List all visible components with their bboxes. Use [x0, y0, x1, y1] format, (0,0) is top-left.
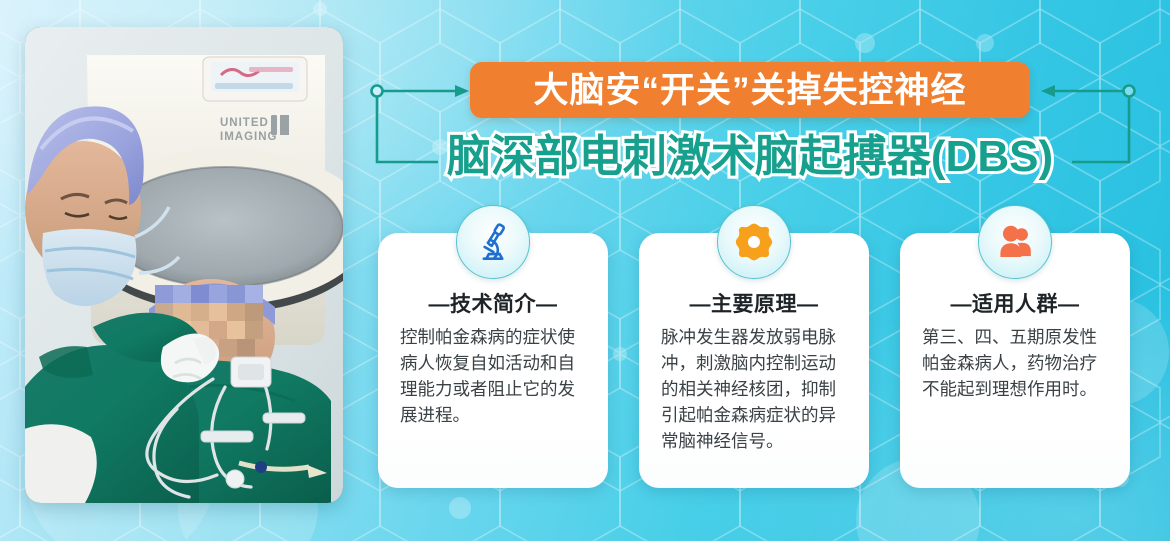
card-body-text: 控制帕金森病的症状使病人恢复自如活动和自理能力或者阻止它的发展进程。 — [400, 325, 590, 429]
microscope-icon — [473, 222, 513, 262]
card-body-text: 第三、四、五期原发性帕金森病人，药物治疗不能起到理想作用时。 — [922, 325, 1112, 403]
headline-banner-text: 大脑安“开关”关掉失控神经 — [533, 73, 966, 108]
gear-icon-badge — [717, 205, 791, 279]
info-card-group: —技术简介— 控制帕金森病的症状使病人恢复自如活动和自理能力或者阻止它的发展进程… — [378, 233, 1150, 488]
microscope-icon-badge — [456, 205, 530, 279]
headline-banner: 大脑安“开关”关掉失控神经 — [470, 62, 1030, 118]
card-title: —主要原理— — [639, 288, 869, 318]
svg-text:IMAGING: IMAGING — [220, 131, 277, 143]
svg-text:UNITED: UNITED — [220, 117, 269, 129]
card-title: —适用人群— — [900, 288, 1130, 318]
headline-subtitle: 脑深部电刺激术脑起搏器(DBS) — [380, 126, 1120, 188]
people-icon — [995, 222, 1035, 262]
surgery-photo: UNITED IMAGING — [25, 27, 343, 503]
headline-subtitle-text: 脑深部电刺激术脑起搏器(DBS) — [447, 135, 1053, 179]
gear-icon — [734, 222, 774, 262]
people-icon-badge — [978, 205, 1052, 279]
infographic-banner: UNITED IMAGING — [0, 0, 1170, 541]
info-card-tech-intro: —技术简介— 控制帕金森病的症状使病人恢复自如活动和自理能力或者阻止它的发展进程… — [378, 233, 608, 488]
info-card-main-principle: —主要原理— 脉冲发生器发放弱电脉冲，刺激脑内控制运动的相关神经核团，抑制引起帕… — [639, 233, 869, 488]
info-card-target-group: —适用人群— 第三、四、五期原发性帕金森病人，药物治疗不能起到理想作用时。 — [900, 233, 1130, 488]
card-title: —技术简介— — [378, 288, 608, 318]
card-body-text: 脉冲发生器发放弱电脉冲，刺激脑内控制运动的相关神经核团，抑制引起帕金森病症状的异… — [661, 325, 851, 454]
